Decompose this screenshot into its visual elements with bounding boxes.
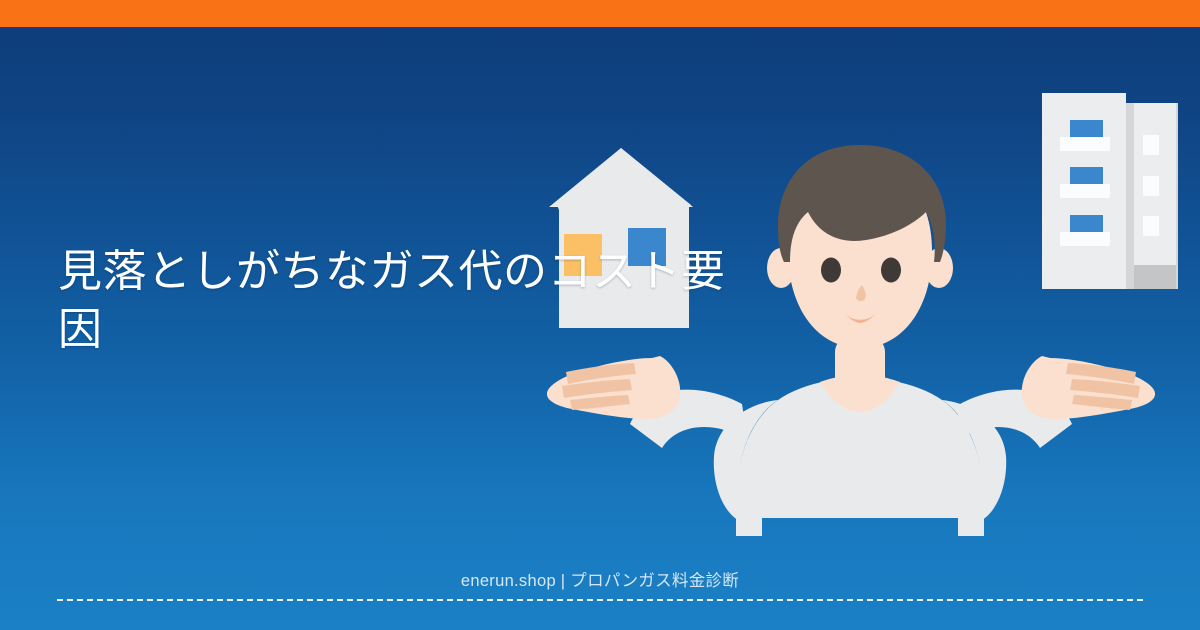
page-title: 見落としがちなガス代のコスト要因 (58, 243, 748, 359)
right-hand (1022, 356, 1155, 419)
top-accent-bar (0, 0, 1200, 27)
og-image-canvas: 見落としがちなガス代のコスト要因 enerun.shop | プロパンガス料金診… (0, 0, 1200, 630)
eye-right (881, 258, 901, 283)
footer-brand-text: enerun.shop | プロパンガス料金診断 (0, 570, 1200, 592)
eye-left (821, 258, 841, 283)
nose (856, 285, 866, 301)
mouth (845, 313, 876, 323)
footer-dashed-rule (57, 599, 1143, 601)
left-hand (547, 356, 680, 419)
footer: enerun.shop | プロパンガス料金診断 (0, 570, 1200, 630)
building-illustration (1042, 93, 1178, 289)
